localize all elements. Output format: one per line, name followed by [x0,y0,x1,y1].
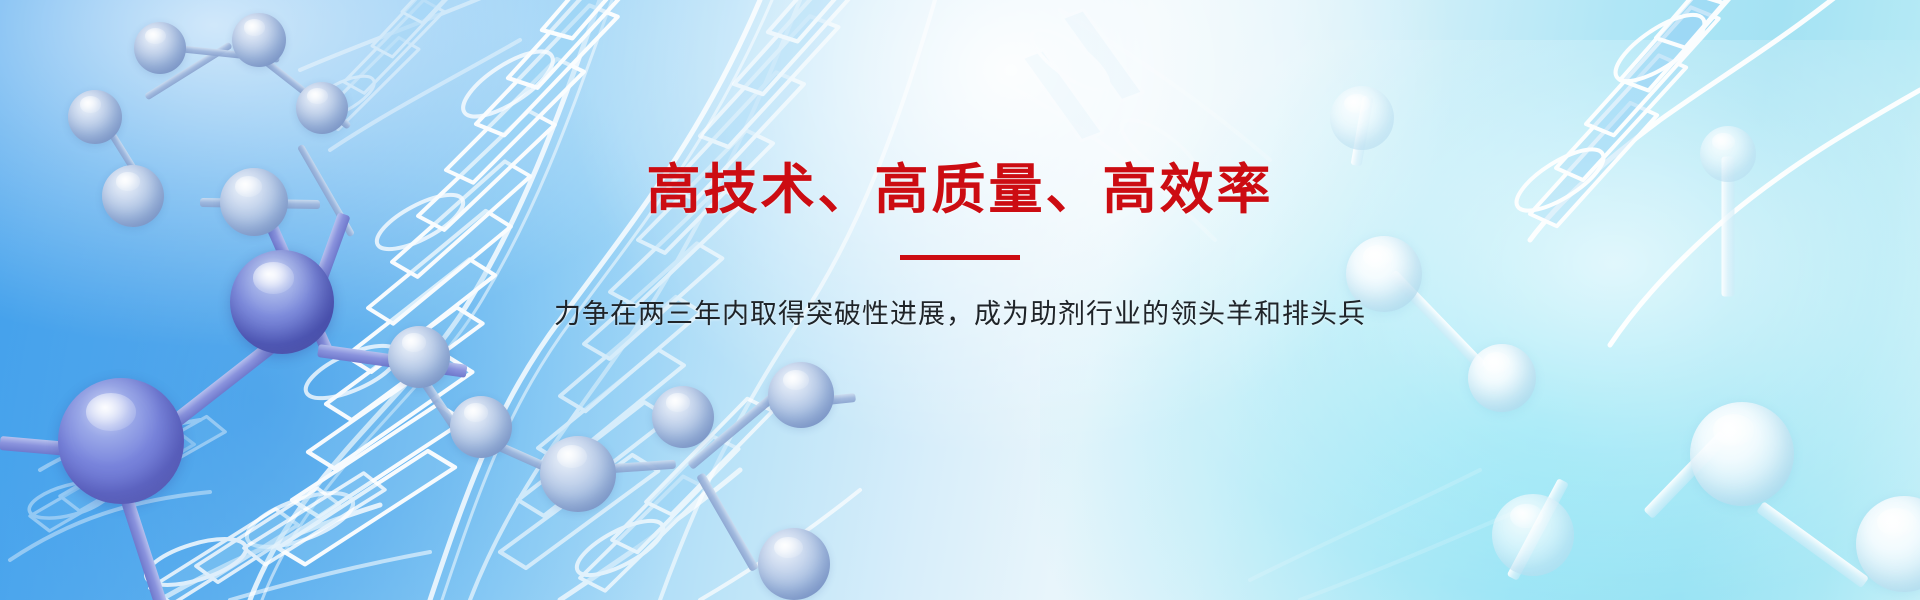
banner-content: 高技术、高质量、高效率 力争在两三年内取得突破性进展，成为助剂行业的领头羊和排头… [0,158,1920,334]
title-divider [900,255,1020,260]
banner-subtitle: 力争在两三年内取得突破性进展，成为助剂行业的领头羊和排头兵 [0,296,1920,334]
banner-title: 高技术、高质量、高效率 [0,158,1920,223]
hero-banner: 高技术、高质量、高效率 力争在两三年内取得突破性进展，成为助剂行业的领头羊和排头… [0,0,1920,600]
